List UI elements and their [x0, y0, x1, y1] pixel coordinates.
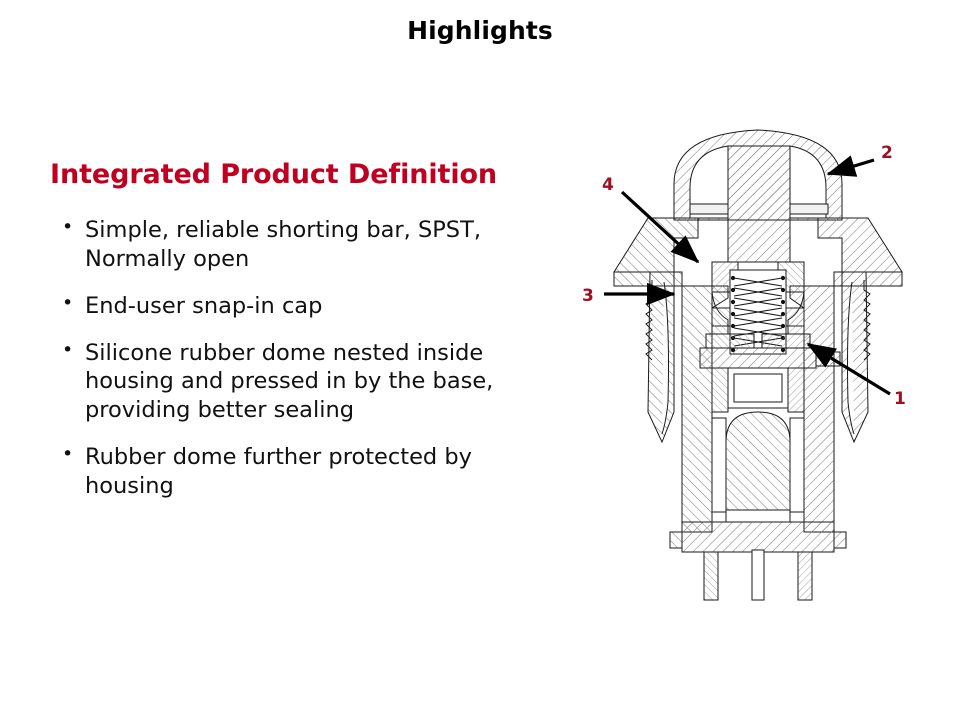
list-item: Silicone rubber dome nested inside housi… — [50, 339, 540, 425]
snap-in-cap — [674, 130, 842, 262]
list-item: End-user snap-in cap — [50, 292, 540, 321]
callout-number-4: 4 — [602, 175, 614, 195]
content-text-column: Integrated Product Definition Simple, re… — [50, 160, 540, 519]
page-title: Highlights — [0, 16, 960, 45]
list-item: Rubber dome further protected by housing — [50, 443, 540, 501]
housing-snap-arm-right — [842, 272, 870, 442]
switch-cross-section-diagram: 2 4 3 1 — [578, 112, 938, 602]
base-block — [670, 522, 846, 552]
callout-number-1: 1 — [894, 389, 906, 409]
callout-number-3: 3 — [582, 286, 594, 306]
housing-snap-arm-left — [646, 272, 674, 442]
highlights-bullet-list: Simple, reliable shorting bar, SPST, Nor… — [50, 216, 540, 500]
terminal-pins — [704, 550, 812, 600]
cross-section-drawing: 2 4 3 1 — [578, 112, 938, 602]
lower-rubber-dome — [712, 412, 804, 522]
plunger-cavity — [712, 368, 804, 412]
section-heading: Integrated Product Definition — [50, 160, 540, 190]
list-item: Simple, reliable shorting bar, SPST, Nor… — [50, 216, 540, 274]
callout-number-2: 2 — [881, 143, 893, 163]
